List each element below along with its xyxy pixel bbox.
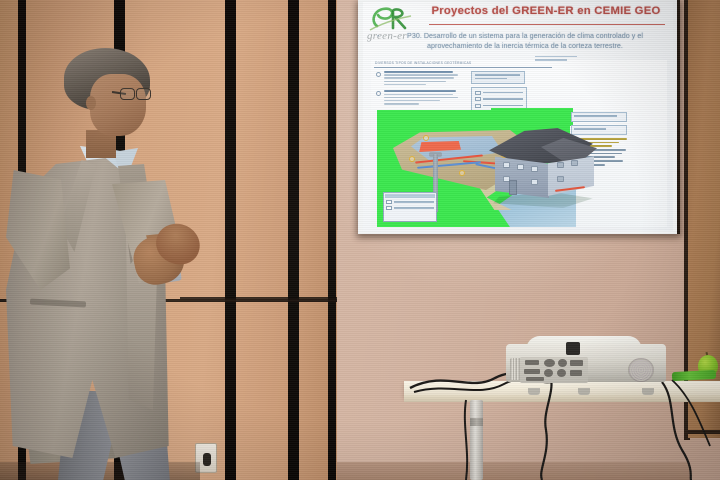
legend-swatch	[475, 104, 481, 108]
ear	[86, 96, 96, 110]
figure-paragraph	[376, 71, 464, 85]
projector[interactable]	[502, 336, 670, 386]
eyeglasses-icon	[112, 88, 150, 102]
projector-port[interactable]	[544, 369, 553, 377]
projector-port[interactable]	[526, 377, 544, 381]
clasped-hands	[130, 218, 200, 290]
projector-port[interactable]	[557, 369, 566, 377]
geothermal-diagram	[371, 108, 667, 227]
diagram-key-box	[383, 192, 437, 222]
projection-screen: green-er Proyectos del GREEN-ER en CEMIE…	[358, 0, 680, 234]
speaker	[0, 0, 340, 480]
heat-pump-building	[489, 122, 597, 214]
figure-text-column	[376, 71, 464, 110]
key-swatch	[386, 206, 392, 210]
diagram-marker	[423, 135, 429, 141]
diagram-marker	[459, 170, 465, 176]
title-underline	[429, 24, 665, 25]
projector-foot	[642, 388, 654, 395]
figure-caption: DIVERSOS TIPOS DE INSTALACIONES GEOTÉRMI…	[375, 61, 471, 65]
projector-cable-connector[interactable]	[566, 342, 580, 355]
bullet-body: P30. Desarrollo de un sistema para la ge…	[407, 32, 643, 50]
projector-port[interactable]	[570, 360, 583, 366]
slide-figure: DIVERSOS TIPOS DE INSTALACIONES GEOTÉRMI…	[371, 60, 667, 227]
slide-bullet-text: - P30. Desarrollo de un sistema para la …	[387, 31, 663, 52]
face	[90, 74, 146, 136]
projector-port[interactable]	[524, 369, 540, 374]
paragraph-number-bullet	[376, 72, 381, 77]
projector-port[interactable]	[544, 359, 555, 367]
paragraph-number-bullet	[376, 91, 381, 96]
presentation-slide: green-er Proyectos del GREEN-ER en CEMIE…	[363, 2, 673, 231]
key-swatch	[386, 200, 392, 204]
glasses-lens	[120, 88, 135, 100]
legend-swatch	[475, 97, 481, 101]
projector-port[interactable]	[525, 360, 539, 365]
figure-paragraph	[376, 90, 464, 104]
projector-port-panel	[520, 357, 588, 383]
figure-top-annotation	[535, 56, 595, 72]
photo-scene: green-er Proyectos del GREEN-ER en CEMIE…	[0, 0, 720, 480]
projector-body	[506, 344, 666, 382]
figure-header-box	[471, 71, 525, 84]
legend-swatch	[475, 91, 481, 95]
bullet-marker: -	[377, 31, 379, 41]
key-box-header	[385, 194, 435, 198]
slide-title: Proyectos del GREEN-ER en CEMIE GEO	[425, 5, 667, 17]
head	[64, 48, 150, 148]
glasses-lens	[136, 88, 151, 100]
annotation-box	[571, 112, 627, 122]
diagram-marker	[409, 156, 415, 162]
projector-foot	[578, 388, 590, 395]
building-door	[509, 180, 517, 195]
projector-port[interactable]	[570, 370, 582, 376]
projector-foot	[528, 388, 540, 395]
projector-port[interactable]	[558, 359, 567, 367]
projector-speaker-grille	[628, 358, 654, 382]
figure-caption-rule	[374, 67, 552, 68]
